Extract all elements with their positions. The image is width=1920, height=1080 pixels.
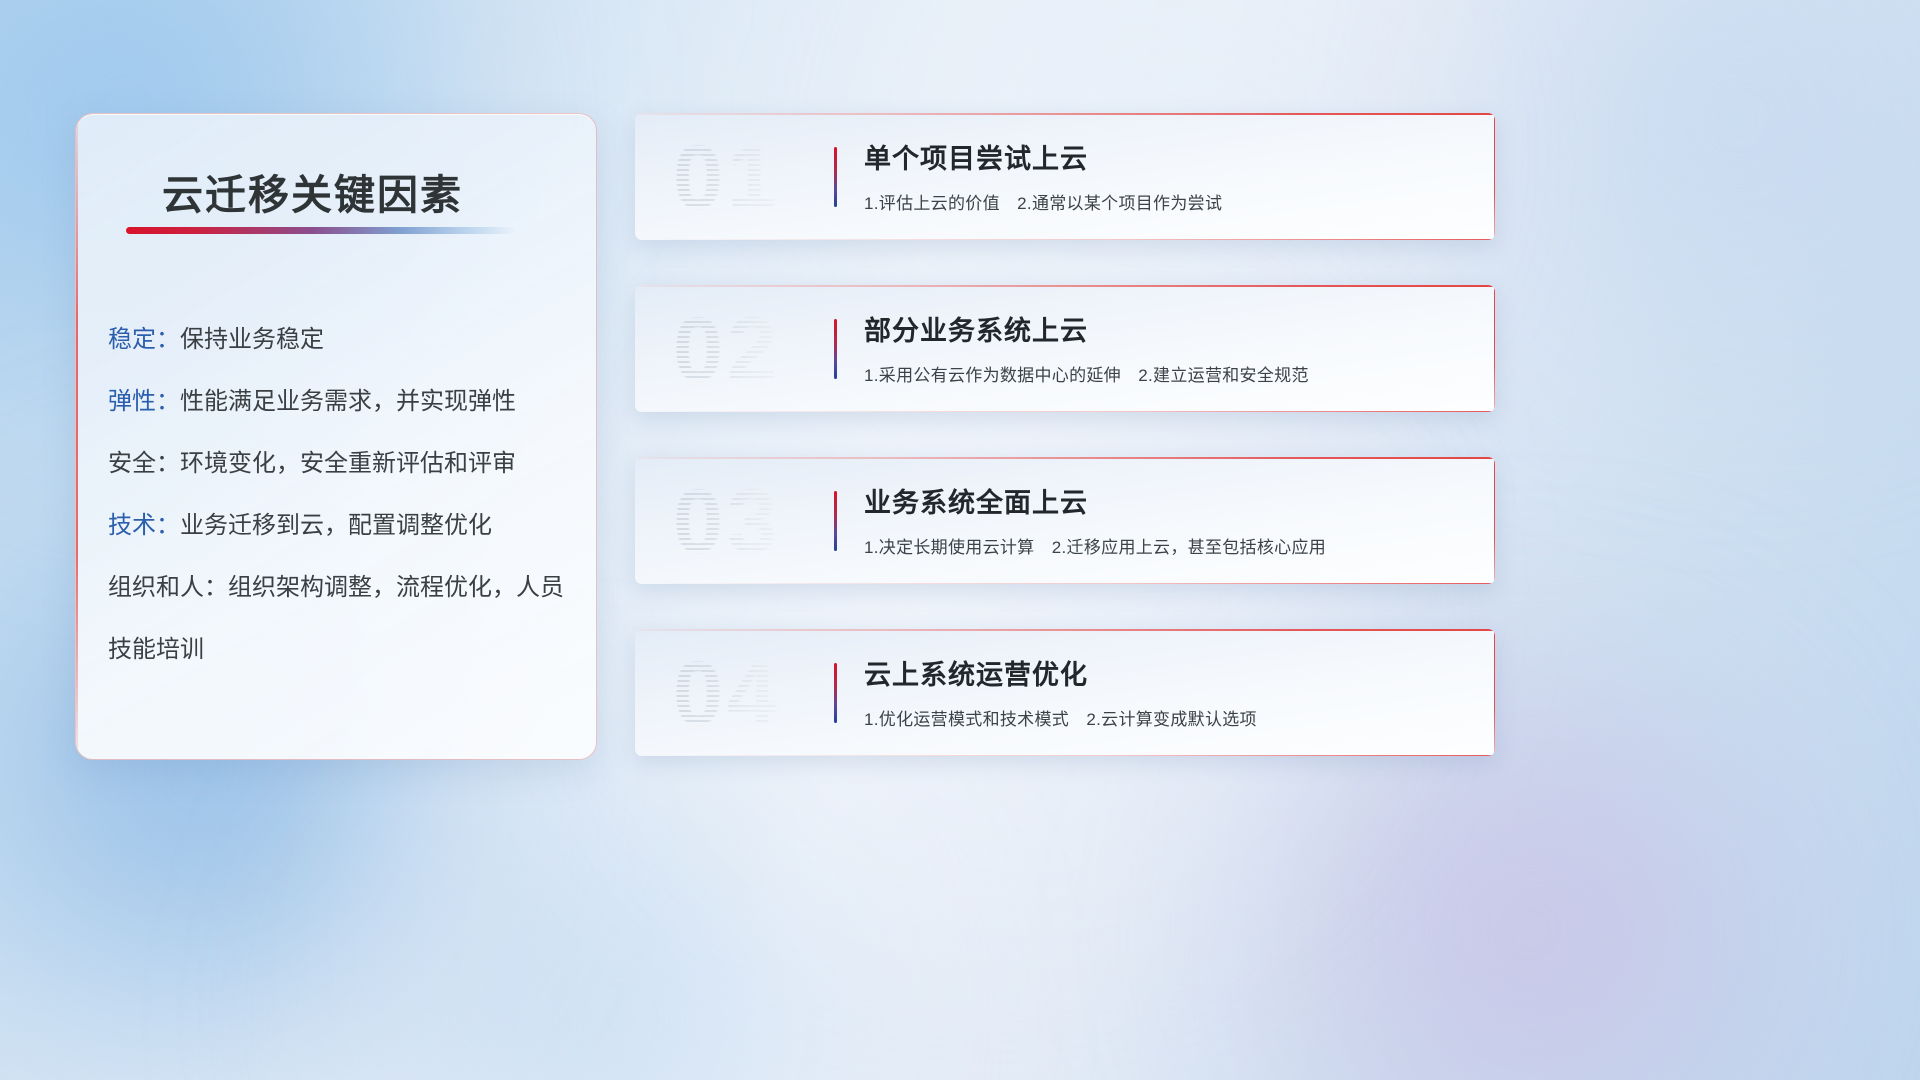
stage-subtitle: 1.评估上云的价值 2.通常以某个项目作为尝试 <box>864 189 1222 214</box>
list-item-text: 性能满足业务需求，并实现弹性 <box>180 388 516 415</box>
list-item-label: 稳定： <box>108 326 180 353</box>
card-right-accent <box>1494 285 1496 412</box>
list-item-text: 业务迁移到云，配置调整优化 <box>180 512 492 539</box>
list-item-text: 保持业务稳定 <box>180 326 324 353</box>
slide-canvas: 云迁移关键因素 稳定：保持业务稳定 弹性：性能满足业务需求，并实现弹性 安全：环… <box>0 0 1920 1080</box>
card-bottom-accent <box>635 583 1495 585</box>
list-item: 技术：业务迁移到云，配置调整优化 <box>108 495 574 557</box>
list-item-label: 安全： <box>108 450 180 477</box>
stage-number-text: 03 <box>673 472 781 572</box>
stage-subtitle: 1.采用公有云作为数据中心的延伸 2.建立运营和安全规范 <box>864 361 1309 386</box>
list-item-text: 环境变化，安全重新评估和评审 <box>180 450 516 477</box>
card-top-accent <box>635 629 1495 631</box>
stage-title: 业务系统全面上云 <box>864 481 1088 520</box>
stage-number-text: 02 <box>673 300 781 400</box>
list-item-label: 技术： <box>108 512 180 539</box>
stage-card-01[interactable]: 01 单个项目尝试上云 1.评估上云的价值 2.通常以某个项目作为尝试 <box>635 113 1495 240</box>
stage-title: 部分业务系统上云 <box>864 309 1088 348</box>
list-item-label: 弹性： <box>108 388 180 415</box>
card-bottom-accent <box>635 411 1495 413</box>
stage-subtitle: 1.优化运营模式和技术模式 2.云计算变成默认选项 <box>864 705 1257 730</box>
stage-subtitle: 1.决定长期使用云计算 2.迁移应用上云，甚至包括核心应用 <box>864 533 1326 558</box>
stage-title: 单个项目尝试上云 <box>864 137 1088 176</box>
list-item: 安全：环境变化，安全重新评估和评审 <box>108 433 574 495</box>
card-top-accent <box>635 457 1495 459</box>
card-top-accent <box>635 285 1495 287</box>
stage-divider-accent <box>834 663 837 723</box>
list-item: 组织和人：组织架构调整，流程优化，人员技能培训 <box>108 557 574 681</box>
card-right-accent <box>1494 113 1496 240</box>
stage-divider-accent <box>834 147 837 207</box>
stage-number-text: 04 <box>673 644 781 744</box>
stage-title: 云上系统运营优化 <box>864 653 1088 692</box>
stage-card-02[interactable]: 02 部分业务系统上云 1.采用公有云作为数据中心的延伸 2.建立运营和安全规范 <box>635 285 1495 412</box>
card-right-accent <box>1494 457 1496 584</box>
list-item-label: 组织和人： <box>108 574 228 601</box>
key-factors-list: 稳定：保持业务稳定 弹性：性能满足业务需求，并实现弹性 安全：环境变化，安全重新… <box>108 309 574 681</box>
stage-card-04[interactable]: 04 云上系统运营优化 1.优化运营模式和技术模式 2.云计算变成默认选项 <box>635 629 1495 756</box>
stage-card-03[interactable]: 03 业务系统全面上云 1.决定长期使用云计算 2.迁移应用上云，甚至包括核心应… <box>635 457 1495 584</box>
list-item: 稳定：保持业务稳定 <box>108 309 574 371</box>
key-factors-panel: 云迁移关键因素 稳定：保持业务稳定 弹性：性能满足业务需求，并实现弹性 安全：环… <box>75 113 597 760</box>
stage-divider-accent <box>834 491 837 551</box>
card-right-accent <box>1494 629 1496 756</box>
card-bottom-accent <box>635 755 1495 757</box>
card-top-accent <box>635 113 1495 115</box>
stage-divider-accent <box>834 319 837 379</box>
stage-number-text: 01 <box>673 128 781 228</box>
page-title: 云迁移关键因素 <box>162 161 463 221</box>
card-bottom-accent <box>635 239 1495 241</box>
list-item: 弹性：性能满足业务需求，并实现弹性 <box>108 371 574 433</box>
title-underline-accent <box>126 227 516 234</box>
